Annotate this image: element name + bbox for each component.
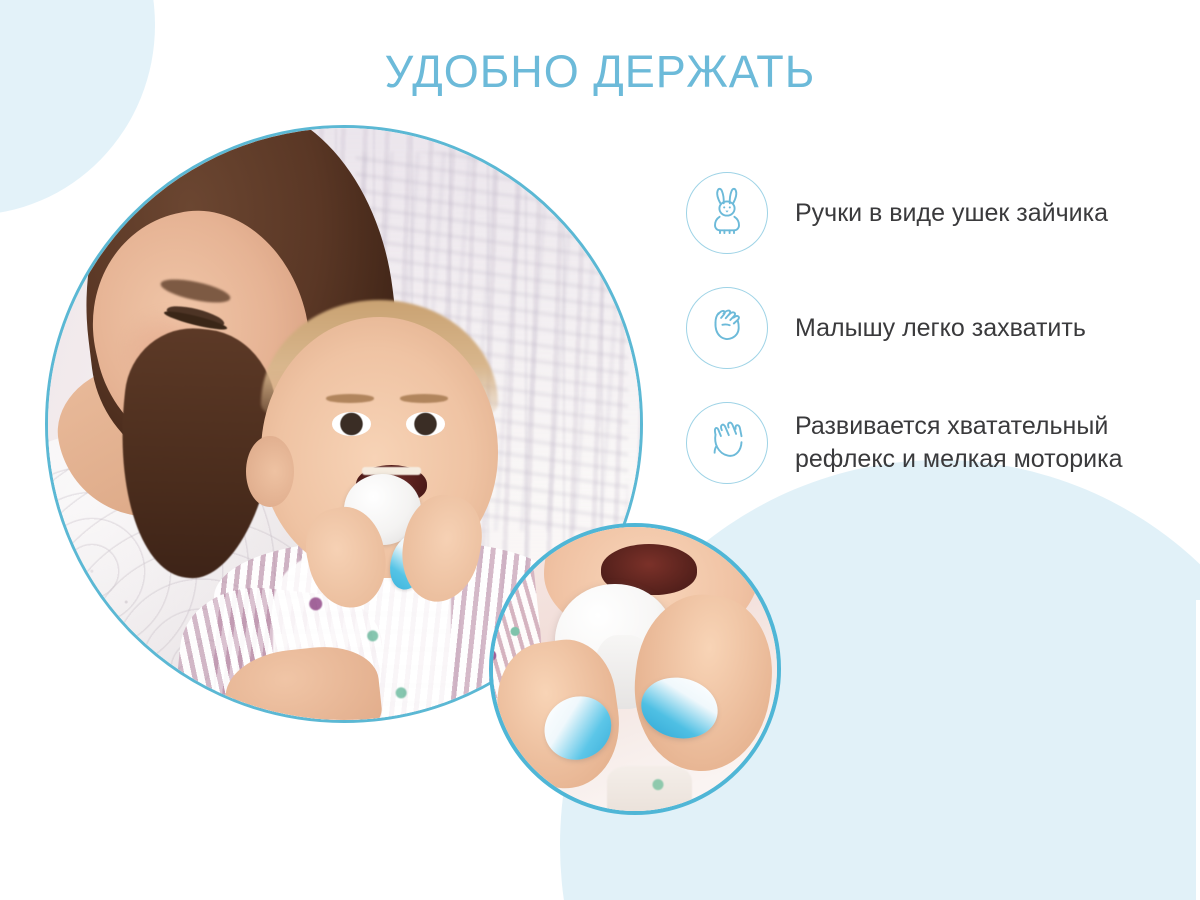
infographic-slide: УДОБНО ДЕРЖАТЬ bbox=[0, 0, 1200, 900]
inset-closeup-photo bbox=[489, 523, 781, 815]
feature-label: Ручки в виде ушек зайчика bbox=[795, 197, 1108, 230]
baby-teeth bbox=[362, 467, 421, 475]
inset-photo-scene bbox=[493, 527, 777, 811]
baby-eye-left bbox=[332, 412, 370, 436]
feature-label: Малышу легко захватить bbox=[795, 312, 1086, 345]
baby-ear bbox=[246, 436, 293, 507]
page-title: УДОБНО ДЕРЖАТЬ bbox=[0, 46, 1200, 98]
grasping-fist-icon bbox=[703, 302, 751, 355]
feature-item-grasp-reflex: Развивается хватательный рефлекс и мелка… bbox=[686, 402, 1186, 484]
feature-icon-circle bbox=[686, 172, 768, 254]
baby-eyebrow-right bbox=[400, 394, 447, 402]
open-hand-icon bbox=[702, 416, 752, 471]
feature-icon-circle bbox=[686, 287, 768, 369]
baby-eye-right bbox=[406, 412, 444, 436]
feature-list: Ручки в виде ушек зайчика bbox=[686, 172, 1186, 517]
feature-icon-circle bbox=[686, 402, 768, 484]
baby-eyebrow-left bbox=[326, 394, 373, 402]
feature-label: Развивается хватательный рефлекс и мелка… bbox=[795, 410, 1123, 476]
inset-baby-bib bbox=[607, 766, 692, 815]
feature-item-bunny-handles: Ручки в виде ушек зайчика bbox=[686, 172, 1186, 254]
bunny-icon bbox=[703, 186, 751, 241]
feature-item-easy-grip: Малышу легко захватить bbox=[686, 287, 1186, 369]
decorative-edge-strip bbox=[1196, 600, 1200, 900]
